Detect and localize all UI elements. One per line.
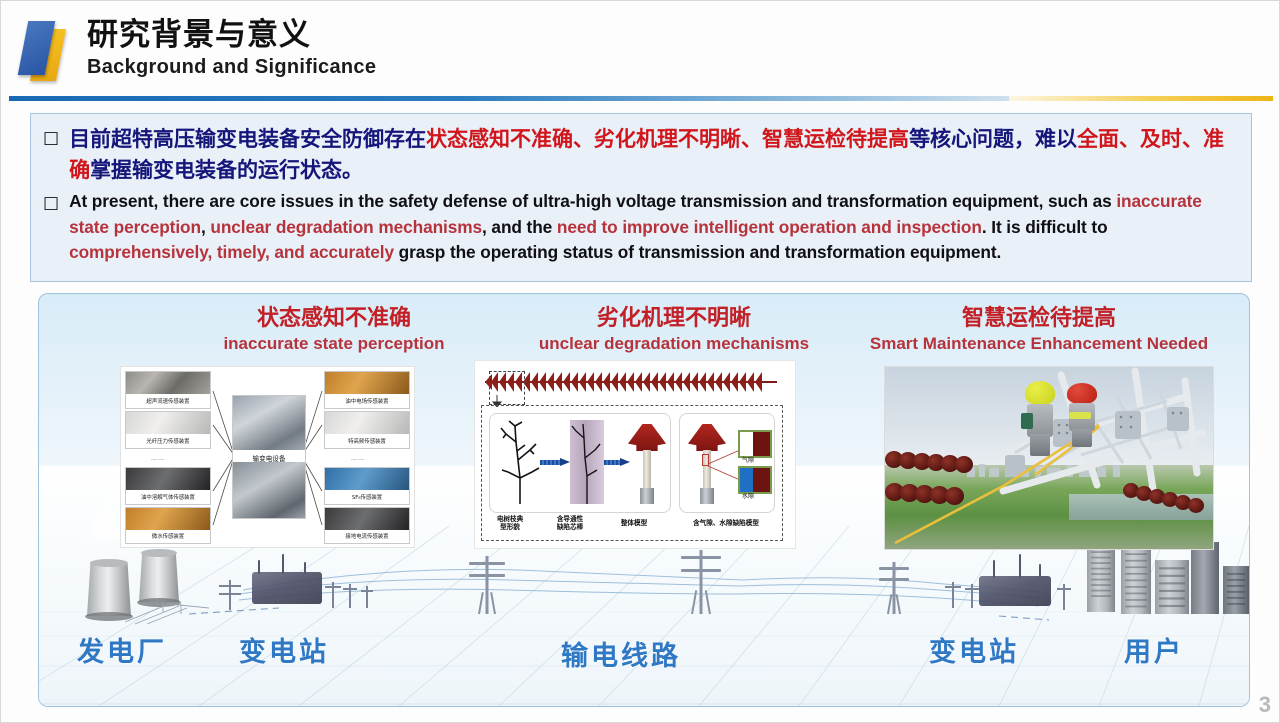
en-seg1: At present, there are core issues in the… [69,191,1116,211]
defect-marker-box [702,454,709,466]
defect-callout-lines [706,448,742,482]
figure-lineman-photo [884,366,1214,550]
section-heading-2: 劣化机理不明晰 unclear degradation mechanisms [469,306,879,354]
section-heading-3: 智慧运检待提高 Smart Maintenance Enhancement Ne… [839,306,1239,354]
building [1121,546,1151,614]
composite-insulator [485,369,777,395]
section-heading-1: 状态感知不准确 inaccurate state perception [149,306,519,354]
figure-sensor-map: 超声流速传感装置 光纤压力传感装置 …… 油中溶解气体传感装置 微水传感装置 输… [120,366,415,548]
fig2-label-2: 含导通性 缺陷芯棒 [545,515,595,531]
fig2-label-1: 电树枝典 型形貌 [485,515,535,531]
worker-backpack [1021,413,1033,429]
building-windows [1158,564,1186,611]
sensor-photo [126,468,210,490]
yellow-helmet-icon [1025,381,1055,405]
bullet-square-icon: □ [43,124,59,153]
header-divider [9,96,1273,101]
pylon-arm-top [469,562,505,565]
building-windows [1226,570,1246,608]
building [1223,566,1249,614]
en-seg3: , and the [482,217,557,237]
sensor-card: 接地电流传感装置 [324,507,410,544]
sensor-card: 微水传感装置 [125,507,211,544]
stage-arrow-1 [540,458,570,467]
sensor-label: 油中电场传感装置 [325,394,409,408]
heading-3-en: Smart Maintenance Enhancement Needed [839,333,1239,354]
pylon-arm-mid [879,578,909,581]
caption-substation-left: 变电站 [239,630,329,669]
pylon-arm [343,588,357,590]
cooling-tower-rim [141,549,176,557]
model-fitting [700,488,714,504]
sensor-card: 特高频传感装置 [324,411,410,449]
void-material [753,432,770,456]
sensor-photo [126,372,210,394]
en-red3: need to improve intelligent operation an… [557,217,982,237]
bullet-item-en: □ At present, there are core issues in t… [43,189,1239,266]
sensor-card: SF₆传感装置 [324,467,410,505]
arrow-shaft [540,460,562,465]
slide-header: 研究背景与意义 Background and Significance [1,1,1280,93]
pylon-leg-right [490,592,496,614]
cn-seg3: 掌握输变电装备的运行状态。 [90,158,363,182]
heading-2-cn: 劣化机理不明晰 [469,306,879,332]
pylon-leg-left [887,594,892,614]
void-defect-panel: 气隙 水隙 [679,413,775,513]
worker-legs [1072,429,1092,448]
electrical-tree-morphology [496,420,544,504]
worker-red-helmet [1067,383,1097,445]
worker-legs [1030,434,1050,456]
sensor-photo [126,508,210,530]
heading-1-cn: 状态感知不准确 [149,306,519,332]
sensor-label: 微水传感装置 [126,530,210,543]
degradation-stage-panel [489,413,671,513]
small-pylon [361,586,373,608]
sensor-label: 超声流速传感装置 [126,394,210,408]
pylon-arm-top [879,567,909,570]
sensor-card: 油中电场传感装置 [324,371,410,409]
red-helmet-icon [1067,383,1097,404]
building-face [1191,542,1219,614]
model-shed-cap [628,424,666,451]
pylon-arm [325,586,341,588]
page-title-en: Background and Significance [87,56,376,79]
pylon-leg-right [704,590,710,614]
pylon-arm [945,586,961,588]
summary-textbox: □ 目前超特高压输变电装备安全防御存在状态感知不准确、劣化机理不明晰、智慧运检待… [30,113,1252,282]
small-pylon [1057,584,1071,610]
substation-mast [1039,564,1041,578]
substation-mass [979,576,1051,606]
fig2-label-4: 含气隙、水隙缺陷模型 [677,519,775,527]
cn-red1: 状态感知不准确、劣化机理不明晰、智慧运检待提高 [426,127,909,151]
small-pylon [945,582,961,608]
small-pylon [325,582,341,608]
en-seg2: , [201,217,210,237]
model-fitting [640,488,654,504]
paragraph-en: At present, there are core issues in the… [69,189,1239,266]
illustration-panel: 状态感知不准确 inaccurate state perception 劣化机理… [38,293,1250,707]
heading-2-en: unclear degradation mechanisms [469,333,879,354]
pylon-arm [965,588,979,590]
sensor-label: 光纤压力传感装置 [126,434,210,448]
pylon-arm [361,590,373,592]
pylon-mast [700,550,703,614]
transmission-pylon [681,550,721,614]
heading-3-cn: 智慧运检待提高 [839,306,1239,332]
pylon-leg-right [896,594,901,614]
paragraph-cn: 目前超特高压输变电装备安全防御存在状态感知不准确、劣化机理不明晰、智慧运检待提高… [69,124,1239,186]
sensor-ellipsis-right: …… [351,455,365,462]
figure-degradation-model: 气隙 水隙 电树枝典 型形貌 含导通性 缺陷芯棒 整体模型 含气隙、水隙缺陷模型 [474,360,796,549]
en-red2: unclear degradation mechanisms [210,217,482,237]
substation-structure [252,572,322,604]
caption-user: 用户 [1124,630,1184,669]
sensor-card: 超声流速传感装置 [125,371,211,409]
insulator-disc [945,487,964,505]
fig2-label-2-line2: 缺陷芯棒 [545,523,595,531]
pylon-leg-left [478,592,484,614]
equipment-photo-bottom [233,462,305,518]
divider-blue-segment [9,96,1009,101]
defective-core-rod-photo [570,420,604,504]
pylon-arm-mid [469,574,505,577]
bullet-item-cn: □ 目前超特高压输变电装备安全防御存在状态感知不准确、劣化机理不明晰、智慧运检待… [43,124,1239,186]
small-pylon [219,580,241,610]
pylon-arm [1057,588,1071,590]
substation-mast [1019,554,1021,578]
substation-mast [282,554,284,574]
divider-gold-segment [1009,96,1273,101]
transmission-pylon [469,556,505,614]
small-pylon [343,584,357,608]
building [1155,560,1189,614]
sensor-label: 特高频传感装置 [325,434,409,448]
cooling-tower-rim [90,559,129,567]
caption-power-plant: 发电厂 [77,630,167,669]
sensor-label: SF₆传感装置 [325,490,409,504]
cn-seg2: 等核心问题，难以 [909,127,1077,151]
fig2-label-3: 整体模型 [607,519,661,527]
sensor-label: 接地电流传感装置 [325,530,409,543]
sensor-photo [325,412,409,434]
arrow-head [560,458,570,466]
equipment-photo-top [233,396,305,452]
plant-yard-lines [123,594,213,626]
substation-mast [304,562,306,574]
building [1191,542,1219,614]
core-rod-tree-channel [570,420,604,504]
heading-1-en: inaccurate state perception [149,333,519,354]
sensor-card: 光纤压力传感装置 [125,411,211,449]
insulator-sheds [485,369,777,395]
smoke-puff [95,506,119,522]
model-core-shaft [643,450,651,490]
fig2-label-2-line1: 含导通性 [545,515,595,523]
sensor-ellipsis-left: …… [151,455,165,462]
air-void-zoom [738,430,772,458]
page-title-cn: 研究背景与意义 [87,17,311,53]
sensor-photo [325,372,409,394]
sensor-photo [325,508,409,530]
en-seg4: . It is difficult to [982,217,1108,237]
en-red4: comprehensively, timely, and accurately [69,242,394,262]
worker-safety-vest [1069,412,1091,419]
fig2-label-1-line1: 电树枝典 [485,515,535,523]
logo-icon [19,17,81,79]
pylon-arm-top [681,556,721,559]
insulator-disc [955,456,973,473]
page-number: 3 [1259,692,1271,718]
pylon-arm [219,593,241,595]
bullet-square-icon-en: □ [43,189,59,218]
pylon-arm [219,585,241,587]
fig2-label-1-line2: 型形貌 [485,523,535,531]
insulator-disc [1188,498,1204,513]
sensor-photo [325,468,409,490]
substation-mass [252,572,322,604]
transmission-pylon [879,562,909,614]
caption-transmission-line: 输电线路 [561,634,681,673]
center-equipment-card: 输变电设备 [232,395,306,519]
pylon-arm-mid [681,569,721,572]
stage-arrow-2 [604,458,630,467]
void-cavity [740,468,753,492]
slide: 研究背景与意义 Background and Significance □ 目前… [0,0,1280,723]
substation-structure [979,576,1051,606]
caption-substation-right: 变电站 [929,630,1019,669]
cn-seg1: 目前超特高压输变电装备安全防御存在 [69,127,426,151]
pylon-leg-left [691,590,697,614]
smoke-puff [91,522,121,540]
void-cavity [740,432,753,456]
substation-mast [258,560,260,574]
substation-mast [993,560,995,578]
sensor-photo [126,412,210,434]
sensor-label: 油中溶解气体传感装置 [126,490,210,504]
water-void-label: 水隙 [742,491,754,500]
overall-model-render [628,424,666,504]
worker-yellow-helmet [1025,381,1055,453]
void-material [753,468,770,492]
small-pylon [965,584,979,608]
building-windows [1124,550,1148,611]
smoke-puff [101,492,119,505]
en-seg5: grasp the operating status of transmissi… [394,242,1001,262]
sensor-card: 油中溶解气体传感装置 [125,467,211,505]
water-void-zoom [738,466,772,494]
air-void-label: 气隙 [742,455,754,464]
